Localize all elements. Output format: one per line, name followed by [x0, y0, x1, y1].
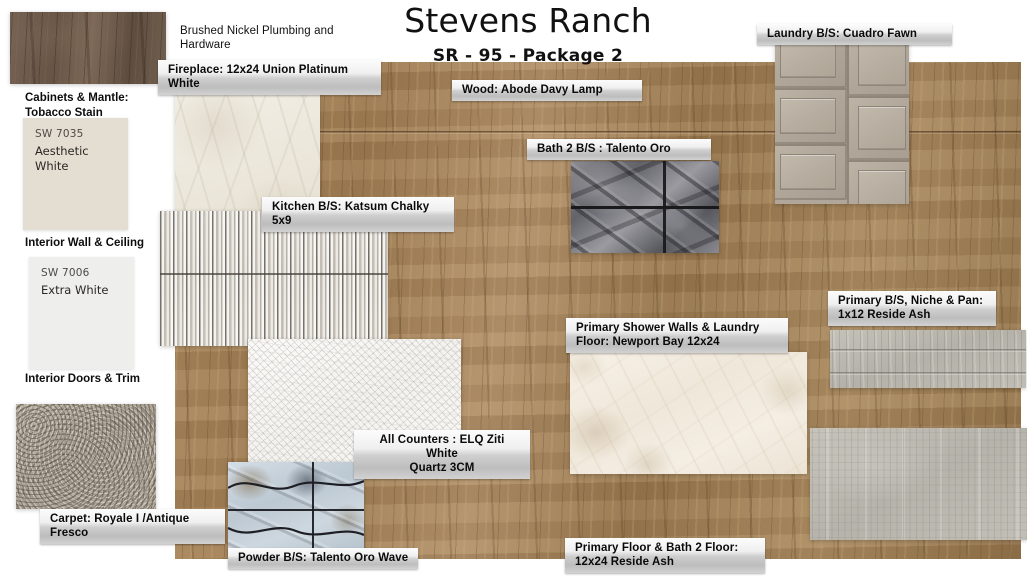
label-kitchen-backsplash: Kitchen B/S: Katsum Chalky 5x9: [262, 197, 454, 232]
label-laundry-backsplash: Laundry B/S: Cuadro Fawn: [757, 24, 952, 45]
cabinet-panel: [847, 96, 909, 160]
label-primary-shower: Primary Shower Walls & Laundry Floor: Ne…: [566, 318, 788, 353]
label-primary-floor: Primary Floor & Bath 2 Floor: 12x24 Resi…: [565, 538, 765, 573]
cabinet-panel: [847, 160, 909, 204]
label-powder-backsplash: Powder B/S: Talento Oro Wave: [228, 548, 418, 569]
cabinet-panel: [847, 42, 909, 96]
swatch-cabinets-tobacco-stain: [10, 12, 166, 84]
swatch-bath2-backsplash: [571, 161, 719, 253]
label-wood: Wood: Abode Davy Lamp: [452, 80, 642, 101]
selection-board: Stevens Ranch SR - 95 - Package 2 SW 703…: [0, 0, 1027, 578]
cabinet-panel: [775, 144, 847, 200]
paint-chip-aesthetic-white: SW 7035 Aesthetic White: [23, 118, 128, 230]
swatch-newport-bay-tile: [570, 352, 807, 474]
title-block: Stevens Ranch SR - 95 - Package 2: [398, 4, 658, 66]
caption-cabinets-mantle: Cabinets & Mantle: Tobacco Stain: [25, 91, 175, 121]
swatch-reside-ash-1x12: [830, 330, 1026, 388]
cabinet-panel: [775, 42, 847, 88]
label-primary-bs-niche: Primary B/S, Niche & Pan: 1x12 Reside As…: [828, 291, 996, 326]
label-brushed-nickel: Brushed Nickel Plumbing and Hardware: [170, 22, 390, 56]
swatch-laundry-backsplash: [775, 42, 909, 204]
wave-vein-bottom: [228, 519, 364, 545]
swatch-powder-backsplash: [228, 462, 364, 555]
swatch-carpet: [16, 404, 156, 509]
paint-chip-extra-white: SW 7006 Extra White: [29, 257, 134, 369]
paint-code: SW 7035: [35, 128, 84, 140]
swatch-reside-ash-12x24: [810, 428, 1027, 540]
paint-name: Extra White: [41, 283, 108, 298]
wave-vein-top: [228, 472, 364, 498]
caption-interior-doors-trim: Interior Doors & Trim: [25, 372, 185, 387]
paint-name: Aesthetic White: [35, 144, 89, 173]
label-fireplace: Fireplace: 12x24 Union Platinum White: [158, 60, 381, 95]
cabinet-panel: [775, 88, 847, 144]
page-title: Stevens Ranch: [398, 4, 658, 39]
page-subtitle: SR - 95 - Package 2: [398, 46, 658, 66]
paint-code: SW 7006: [41, 267, 90, 279]
caption-interior-wall-ceiling: Interior Wall & Ceiling: [25, 236, 185, 251]
label-bath2-backsplash: Bath 2 B/S : Talento Oro: [527, 139, 711, 160]
label-carpet: Carpet: Royale I /Antique Fresco: [40, 509, 225, 544]
label-all-counters: All Counters : ELQ Ziti White Quartz 3CM: [354, 430, 530, 479]
